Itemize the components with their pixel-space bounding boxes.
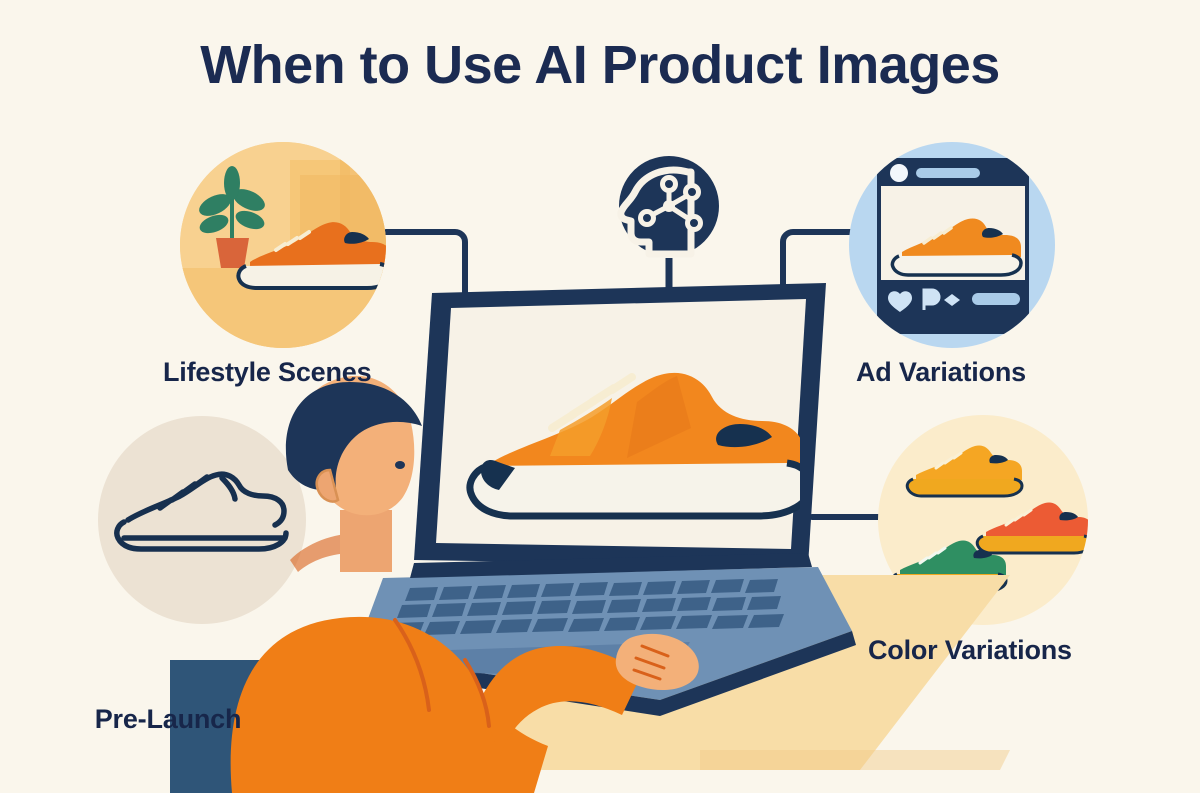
ai-brain-icon[interactable] [619, 156, 719, 256]
label-color-variations: Color Variations [868, 633, 1072, 668]
social-post-mockup [877, 158, 1029, 334]
node-ad-variations[interactable] [849, 142, 1055, 348]
node-lifestyle-scenes[interactable] [180, 142, 395, 348]
node-pre-launch-concepts[interactable] [98, 416, 306, 624]
person-neck [340, 510, 392, 572]
infographic-canvas: When to Use AI Product Images [0, 0, 1200, 793]
laptop-keyboard [388, 579, 784, 636]
label-pre-launch-concepts: Pre-Launch Concepts [68, 633, 268, 793]
label-ad-variations: Ad Variations [856, 355, 1026, 390]
avatar [890, 164, 908, 182]
label-lifestyle-scenes: Lifestyle Scenes [163, 355, 371, 390]
label-pre-launch-line1: Pre-Launch [68, 702, 268, 737]
connector-lifestyle [386, 232, 465, 300]
person-eye [395, 461, 405, 469]
